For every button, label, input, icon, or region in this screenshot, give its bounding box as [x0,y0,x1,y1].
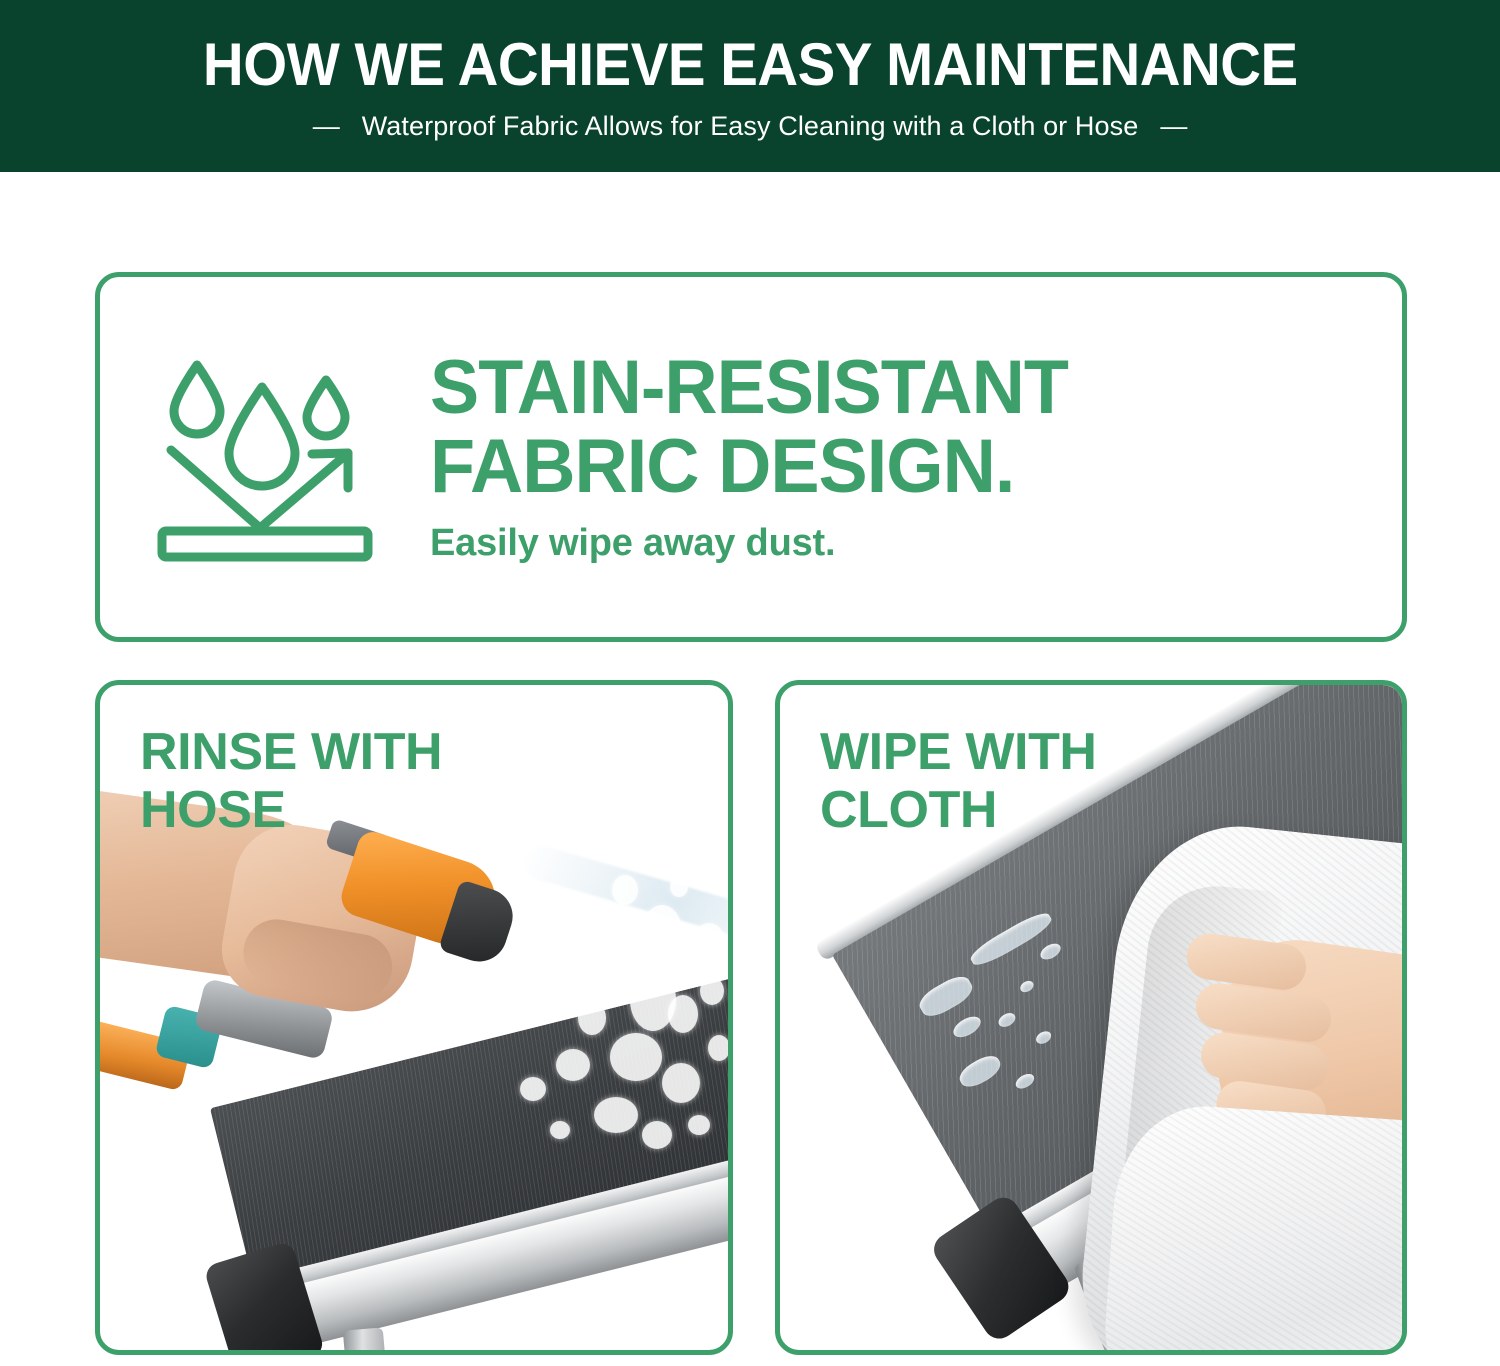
water-repellent-fabric-icon [140,345,390,575]
dash-right-icon: — [1160,113,1187,140]
subtitle-row: — Waterproof Fabric Allows for Easy Clea… [313,111,1188,142]
feature-heading-line2: FABRIC DESIGN. [430,428,1344,506]
feature-heading-line1: STAIN-RESISTANT [430,349,1344,427]
dash-left-icon: — [313,113,340,140]
water-jet-stream [520,842,728,946]
cloth-wiping-pet-cot-photo [780,685,1402,1350]
hose-rinsing-pet-cot-photo [100,685,728,1350]
microfiber-cloth-drape [1100,1100,1402,1350]
cot-leg-front [343,1327,399,1350]
hose-and-hand [100,805,508,1095]
page-title: HOW WE ACHIEVE EASY MAINTENANCE [203,34,1298,95]
infographic-page: HOW WE ACHIEVE EASY MAINTENANCE — Waterp… [0,0,1500,1366]
feature-icon-container [100,339,430,575]
wipe-with-cloth-card: WIPE WITH CLOTH [775,680,1407,1355]
feature-text-block: STAIN-RESISTANT FABRIC DESIGN. Easily wi… [430,349,1402,565]
header-banner: HOW WE ACHIEVE EASY MAINTENANCE — Waterp… [0,0,1500,172]
feature-subheading: Easily wipe away dust. [430,522,1372,565]
feature-card: STAIN-RESISTANT FABRIC DESIGN. Easily wi… [95,272,1407,642]
page-subtitle: Waterproof Fabric Allows for Easy Cleani… [362,111,1139,142]
rinse-with-hose-card: RINSE WITH HOSE [95,680,733,1355]
